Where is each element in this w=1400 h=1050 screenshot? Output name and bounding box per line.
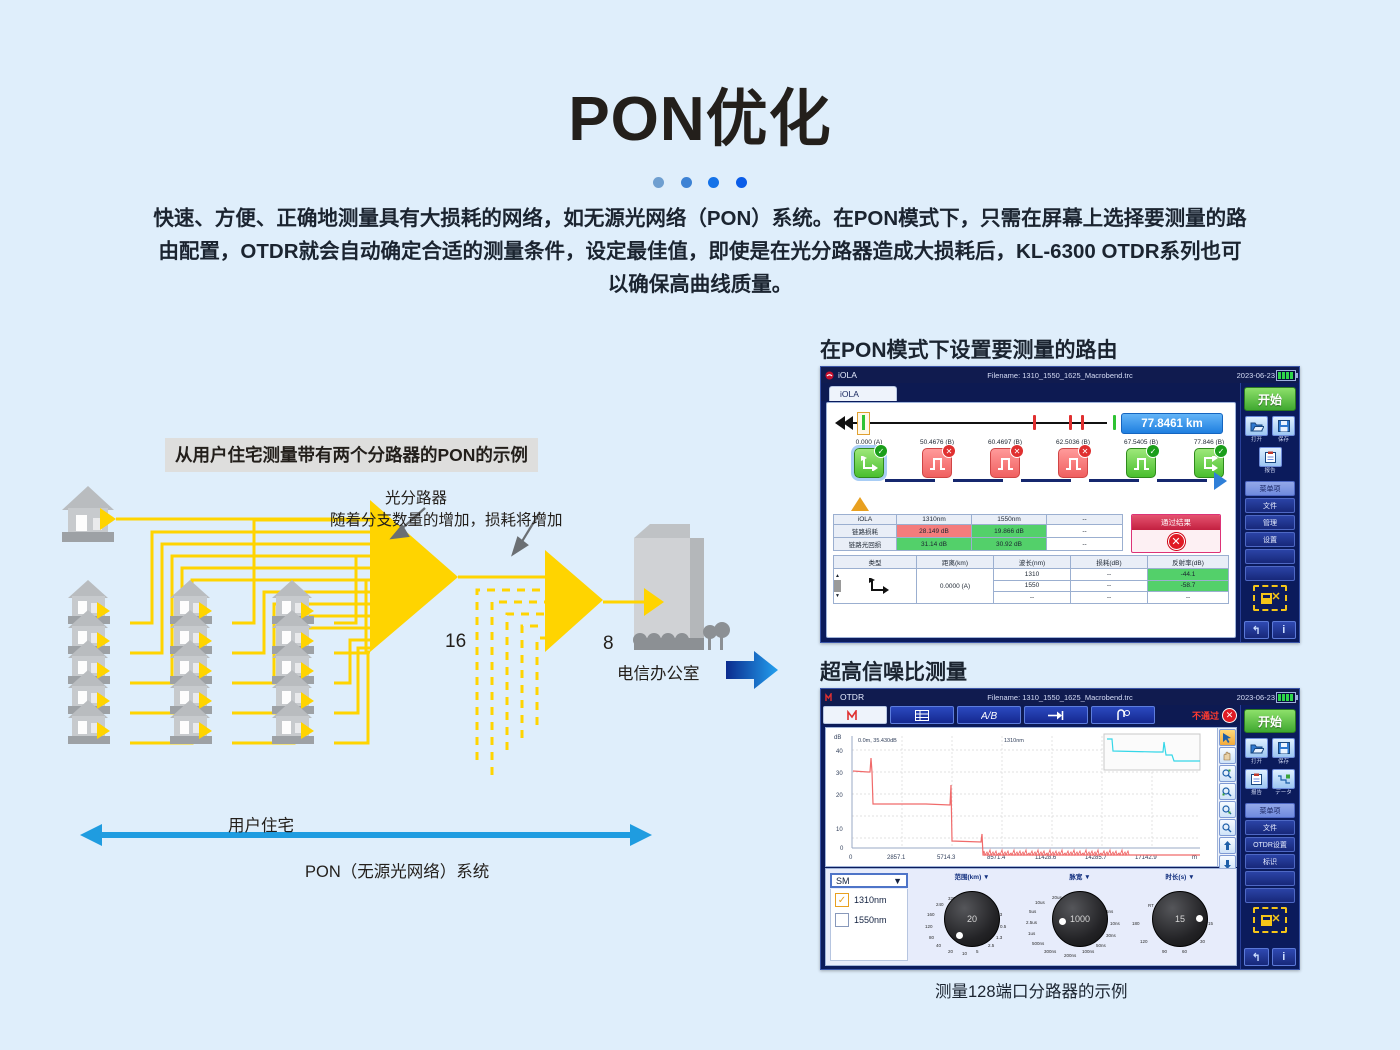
col-name: iOLA bbox=[834, 515, 897, 525]
fail-status: 不通过 ✕ bbox=[1192, 708, 1237, 723]
menu-item-main[interactable]: 菜单项 bbox=[1245, 803, 1295, 818]
chevron-down-icon: ▼ bbox=[893, 876, 902, 886]
table-row: 链路光回损 31.14 dB 30.92 dB -- bbox=[834, 538, 1123, 551]
folder-open-icon bbox=[1245, 416, 1268, 436]
tab-ab[interactable]: A/B bbox=[957, 706, 1021, 724]
zoom-x-icon[interactable] bbox=[1219, 765, 1236, 782]
col-type: 类型 bbox=[834, 556, 917, 569]
status-indicator-icon[interactable] bbox=[1253, 907, 1287, 933]
tab-loop[interactable] bbox=[1091, 706, 1155, 724]
scroll-down-icon[interactable]: ▼ bbox=[834, 593, 841, 599]
svg-text:8571.4: 8571.4 bbox=[987, 855, 1006, 861]
house-grid bbox=[68, 580, 314, 744]
panel2-toolbar: A/B 不通过 ✕ bbox=[821, 705, 1241, 725]
cell-reflect: -- bbox=[1148, 592, 1229, 604]
save-button[interactable]: 保存 bbox=[1271, 738, 1296, 766]
col-distance: 距离(km) bbox=[917, 556, 994, 569]
start-button[interactable]: 开始 bbox=[1244, 709, 1296, 733]
menu-item-blank[interactable]: · bbox=[1245, 871, 1295, 886]
panel1-titlebar: iOLA Filename: 1310_1550_1625_Macrobend.… bbox=[821, 367, 1299, 383]
menu-item-blank[interactable]: · bbox=[1245, 549, 1295, 564]
fiber-type-select[interactable]: SM ▼ bbox=[830, 873, 908, 888]
otdr-trace-chart: dB 40 30 20 10 0 0 2857.1 5714.3 8571.4 … bbox=[825, 727, 1237, 867]
fail-label: 不通过 bbox=[1192, 709, 1219, 722]
cell-loss: -- bbox=[1071, 580, 1148, 592]
panel1-date: 2023-06-23 bbox=[1237, 371, 1275, 380]
tab-arrow[interactable] bbox=[1024, 706, 1088, 724]
save-icon bbox=[1272, 738, 1295, 758]
cell-value: 30.92 dB bbox=[972, 538, 1047, 551]
col-wavelength: 波长(nm) bbox=[994, 556, 1071, 569]
wavelength-option[interactable]: ✓ 1310nm bbox=[835, 893, 903, 907]
col-1310: 1310nm bbox=[897, 515, 972, 525]
cell-value: 28.149 dB bbox=[897, 525, 972, 538]
pon-system-label: PON（无源光网络）系统 bbox=[305, 858, 489, 882]
warning-marker-icon bbox=[851, 497, 869, 511]
wavelength-label: 1310nm bbox=[854, 895, 887, 905]
panel1-content: 77.8461 km 0.000 (A) ✓ bbox=[826, 402, 1236, 638]
report-icon bbox=[1245, 769, 1268, 789]
marker-readout: 0.0m, 35.430dB bbox=[858, 738, 897, 744]
panel1-filename: Filename: 1310_1550_1625_Macrobend.trc bbox=[821, 371, 1299, 380]
report-button[interactable]: 报告 bbox=[1244, 769, 1269, 797]
svg-text:17142.9: 17142.9 bbox=[1135, 855, 1157, 861]
checkbox-checked-icon[interactable]: ✓ bbox=[835, 893, 849, 907]
info-button[interactable]: i bbox=[1272, 621, 1297, 639]
cell-reflect: -58.7 bbox=[1148, 580, 1229, 592]
cell-loss: -- bbox=[1071, 569, 1148, 581]
fiber-type-value: SM bbox=[836, 876, 850, 886]
summary-table: iOLA 1310nm 1550nm -- 链路损耗 28.149 dB 19.… bbox=[833, 514, 1123, 551]
save-label: 保存 bbox=[1271, 437, 1296, 444]
report-button[interactable]: 报告 bbox=[1258, 447, 1283, 475]
range-knob-value: 20 bbox=[967, 914, 977, 924]
event-node[interactable]: 62.5036 (B) ✕ bbox=[1055, 439, 1091, 478]
trace-data-label: データ bbox=[1271, 790, 1296, 797]
splitter-8-icon bbox=[545, 550, 603, 652]
panel2-sidebar: 开始 打开 保存 报告 bbox=[1240, 705, 1299, 969]
event-icon-step[interactable]: ✕ bbox=[1058, 448, 1088, 478]
event-table-wrap: 类型 距离(km) 波长(nm) 损耗(dB) 反射率(dB) ▲ bbox=[833, 555, 1229, 604]
pon-span-arrow bbox=[80, 824, 652, 846]
menu-item-manage[interactable]: 管理 bbox=[1245, 515, 1295, 530]
distance-badge: 77.8461 km bbox=[1121, 413, 1223, 434]
otdr-device-screenshot: OTDR Filename: 1310_1550_1625_Macrobend.… bbox=[820, 688, 1300, 970]
acquisition-controls: SM ▼ ✓ 1310nm 1550nm 范围(km) ▼ bbox=[825, 868, 1237, 966]
svg-text:30: 30 bbox=[836, 771, 843, 777]
svg-text:0: 0 bbox=[840, 846, 844, 852]
play-next-icon[interactable] bbox=[1214, 472, 1227, 490]
event-chain: 0.000 (A) ✓ 50.4676 (B) ✕ bbox=[833, 439, 1229, 495]
open-label: 打开 bbox=[1244, 759, 1269, 766]
wavelength-readout: 1310nm bbox=[1004, 738, 1024, 744]
wavelength-list: ✓ 1310nm 1550nm bbox=[830, 889, 908, 961]
back-button[interactable]: ↰ bbox=[1244, 948, 1269, 966]
duration-knob[interactable]: 15 bbox=[1152, 891, 1208, 947]
battery-icon bbox=[1276, 692, 1296, 703]
fail-mark-icon: ✕ bbox=[1168, 533, 1185, 550]
svg-text:5714.3: 5714.3 bbox=[937, 855, 956, 861]
checkbox-unchecked-icon[interactable] bbox=[835, 913, 849, 927]
cell-value: 19.866 dB bbox=[972, 525, 1047, 538]
event-icon-step[interactable]: ✕ bbox=[990, 448, 1020, 478]
folder-open-icon bbox=[1245, 738, 1268, 758]
splitter-label: 光分路器 bbox=[385, 486, 447, 508]
house-icon-top bbox=[62, 486, 116, 542]
table-row: 链路损耗 28.149 dB 19.866 dB -- bbox=[834, 525, 1123, 538]
status-pass-badge: ✓ bbox=[1146, 444, 1160, 458]
office-label: 电信办公室 bbox=[617, 660, 700, 684]
save-icon bbox=[1272, 416, 1295, 436]
report-label: 报告 bbox=[1244, 790, 1269, 797]
link-event-tick bbox=[1081, 415, 1084, 430]
tab-iola[interactable]: iOLA bbox=[829, 386, 897, 401]
dashed-fibers bbox=[477, 590, 545, 775]
dot-3 bbox=[708, 177, 719, 188]
duration-knob-value: 15 bbox=[1175, 914, 1185, 924]
col-reflect: 反射率(dB) bbox=[1148, 556, 1229, 569]
save-label: 保存 bbox=[1271, 759, 1296, 766]
link-schematic: 77.8461 km bbox=[835, 409, 1227, 437]
dot-1 bbox=[653, 177, 664, 188]
cell-value: -- bbox=[1047, 525, 1123, 538]
trace-data-button[interactable]: データ bbox=[1271, 769, 1296, 797]
svg-text:0: 0 bbox=[849, 855, 853, 861]
duration-knob-group: 时长(s) ▼ Auto 5 15 30 60 90 120 180 RT 15 bbox=[1126, 871, 1234, 953]
status-fail-badge: ✕ bbox=[1010, 444, 1024, 458]
panel2-heading: 超高信噪比测量 bbox=[820, 656, 967, 686]
start-button[interactable]: 开始 bbox=[1244, 387, 1296, 411]
open-button[interactable]: 打开 bbox=[1244, 416, 1269, 444]
verdict-title: 通过结果 bbox=[1132, 515, 1220, 530]
pon-network-diagram: 从用户住宅测量带有两个分路器的PON的示例 bbox=[40, 420, 760, 890]
report-label: 报告 bbox=[1258, 468, 1283, 475]
pulse-knob-group: 脉宽 ▼ Auto 3ms 5ns 10ns 30ns 50ns 100ns 2… bbox=[1026, 871, 1134, 953]
menu-item-otdr-settings[interactable]: OTDR设置 bbox=[1245, 837, 1295, 852]
zoom-y-icon[interactable] bbox=[1219, 783, 1236, 800]
status-fail-badge: ✕ bbox=[1078, 444, 1092, 458]
open-button[interactable]: 打开 bbox=[1244, 738, 1269, 766]
event-icon-start[interactable]: ✓ bbox=[854, 448, 884, 478]
pulse-knob-value: 1000 bbox=[1070, 914, 1090, 924]
col-empty: -- bbox=[1047, 515, 1123, 525]
menu-item-main[interactable]: 菜单项 bbox=[1245, 481, 1295, 496]
menu-item-blank[interactable]: · bbox=[1245, 566, 1295, 581]
table-header-row: 类型 距离(km) 波长(nm) 损耗(dB) 反射率(dB) bbox=[834, 556, 1229, 569]
link-cursor-a[interactable] bbox=[857, 412, 870, 435]
wavelength-option[interactable]: 1550nm bbox=[835, 913, 903, 927]
magnifier-icon[interactable] bbox=[1219, 819, 1236, 836]
tab-table[interactable] bbox=[890, 706, 954, 724]
scroll-up-icon[interactable]: ▲ bbox=[834, 573, 841, 579]
status-fail-badge: ✕ bbox=[942, 444, 956, 458]
dot-decoration bbox=[0, 175, 1400, 193]
svg-text:40: 40 bbox=[836, 749, 843, 755]
status-indicator-icon[interactable] bbox=[1253, 585, 1287, 611]
graph-tool-column bbox=[1217, 728, 1236, 866]
overview-inset bbox=[1104, 734, 1200, 770]
central-office-icon bbox=[603, 524, 730, 650]
panel2-filename: Filename: 1310_1550_1625_Macrobend.trc bbox=[821, 693, 1299, 702]
event-node[interactable]: 60.4697 (B) ✕ bbox=[987, 439, 1023, 478]
svg-text:11428.6: 11428.6 bbox=[1035, 855, 1057, 861]
svg-text:10: 10 bbox=[836, 827, 843, 833]
svg-text:A/B: A/B bbox=[981, 711, 997, 721]
event-icon-step[interactable]: ✓ bbox=[1126, 448, 1156, 478]
svg-text:14285.7: 14285.7 bbox=[1085, 855, 1107, 861]
report-icon bbox=[1259, 447, 1282, 467]
col-loss: 损耗(dB) bbox=[1071, 556, 1148, 569]
dot-4 bbox=[736, 177, 747, 188]
range-knob-group: 范围(km) ▼ Auto 0.1 0.3 0.5 1.3 2.5 5 10 2… bbox=[918, 871, 1026, 953]
tab-trace[interactable] bbox=[823, 706, 887, 724]
back-button[interactable]: ↰ bbox=[1244, 621, 1269, 639]
link-event-tick bbox=[1113, 415, 1116, 430]
range-knob[interactable]: 20 bbox=[944, 891, 1000, 947]
cursor-icon[interactable] bbox=[1219, 729, 1236, 746]
panel2-date: 2023-06-23 bbox=[1237, 693, 1275, 702]
zoom-box-icon[interactable] bbox=[1219, 801, 1236, 818]
pulse-knob[interactable]: 1000 bbox=[1052, 891, 1108, 947]
splitter-16-label: 16 bbox=[445, 631, 466, 653]
event-node[interactable]: 0.000 (A) ✓ bbox=[851, 439, 887, 478]
splitter-loss-note: 随着分支数量的增加，损耗将增加 bbox=[330, 508, 563, 530]
battery-icon bbox=[1276, 370, 1296, 381]
homes-label: 用户住宅 bbox=[228, 812, 294, 836]
cell-distance: 0.0000 (A) bbox=[917, 569, 994, 604]
cell-loss: -- bbox=[1071, 592, 1148, 604]
status-pass-badge: ✓ bbox=[1214, 444, 1228, 458]
y-axis-unit: dB bbox=[834, 735, 841, 741]
splitter-8-label: 8 bbox=[603, 633, 614, 655]
svg-text:2857.1: 2857.1 bbox=[887, 855, 906, 861]
link-event-tick bbox=[1033, 415, 1036, 430]
cell-wavelength: 1310 bbox=[994, 569, 1071, 581]
up-arrow-icon[interactable] bbox=[1219, 837, 1236, 854]
subscriber-fibers bbox=[130, 520, 370, 743]
menu-item-marker[interactable]: 标识 bbox=[1245, 854, 1295, 869]
cell-value: -- bbox=[1047, 538, 1123, 551]
intro-paragraph: 快速、方便、正确地测量具有大损耗的网络，如无源光网络（PON）系统。在PON模式… bbox=[150, 202, 1250, 301]
info-button[interactable]: i bbox=[1272, 948, 1297, 966]
link-event-tick bbox=[1069, 415, 1072, 430]
save-button[interactable]: 保存 bbox=[1271, 416, 1296, 444]
menu-item-file[interactable]: 文件 bbox=[1245, 820, 1295, 835]
table-scroll[interactable]: ▲ ▼ bbox=[834, 573, 841, 599]
hand-icon[interactable] bbox=[1219, 747, 1236, 764]
trace-data-icon bbox=[1272, 769, 1295, 789]
event-icon-step[interactable]: ✕ bbox=[922, 448, 952, 478]
menu-item-blank[interactable]: · bbox=[1245, 888, 1295, 903]
menu-item-file[interactable]: 文件 bbox=[1245, 498, 1295, 513]
pulse-knob-title: 脉宽 ▼ bbox=[1026, 871, 1134, 881]
event-node[interactable]: 67.5405 (B) ✓ bbox=[1123, 439, 1159, 478]
event-node[interactable]: 50.4676 (B) ✕ bbox=[919, 439, 955, 478]
flow-arrow-icon bbox=[722, 645, 792, 695]
fail-mark-icon: ✕ bbox=[1222, 708, 1237, 723]
cell-value: 31.14 dB bbox=[897, 538, 972, 551]
event-type-icon bbox=[841, 578, 916, 594]
table-header-row: iOLA 1310nm 1550nm -- bbox=[834, 515, 1123, 525]
open-label: 打开 bbox=[1244, 437, 1269, 444]
panel1-heading: 在PON模式下设置要测量的路由 bbox=[820, 334, 1118, 364]
table-row: ▲ ▼ 0.0000 (A) 1310 bbox=[834, 569, 1229, 581]
dot-2 bbox=[681, 177, 692, 188]
row-label: 链路损耗 bbox=[834, 525, 897, 538]
duration-knob-title: 时长(s) ▼ bbox=[1126, 871, 1234, 881]
panel1-tabstrip: iOLA bbox=[821, 383, 1241, 401]
cell-wavelength: 1550 bbox=[994, 580, 1071, 592]
iola-device-screenshot: iOLA Filename: 1310_1550_1625_Macrobend.… bbox=[820, 366, 1300, 643]
panel2-caption: 测量128端口分路器的示例 bbox=[935, 978, 1128, 1002]
status-pass-badge: ✓ bbox=[874, 444, 888, 458]
verdict-box: 通过结果 ✕ bbox=[1131, 514, 1221, 553]
svg-text:m: m bbox=[1192, 855, 1197, 861]
wavelength-label: 1550nm bbox=[854, 915, 887, 925]
panel1-sidebar: 开始 打开 保存 报告 bbox=[1240, 383, 1299, 642]
cell-wavelength: -- bbox=[994, 592, 1071, 604]
svg-text:20: 20 bbox=[836, 793, 843, 799]
cell-reflect: -44.1 bbox=[1148, 569, 1229, 581]
col-1550: 1550nm bbox=[972, 515, 1047, 525]
row-label: 链路光回损 bbox=[834, 538, 897, 551]
page-title: PON优化 bbox=[0, 68, 1400, 158]
panel2-menu-list: 菜单项 文件 OTDR设置 标识 · · bbox=[1245, 803, 1295, 903]
range-knob-title: 范围(km) ▼ bbox=[918, 871, 1026, 881]
menu-item-settings[interactable]: 设置 bbox=[1245, 532, 1295, 547]
panel1-menu-list: 菜单项 文件 管理 设置 · · bbox=[1245, 481, 1295, 581]
panel2-titlebar: OTDR Filename: 1310_1550_1625_Macrobend.… bbox=[821, 689, 1299, 705]
